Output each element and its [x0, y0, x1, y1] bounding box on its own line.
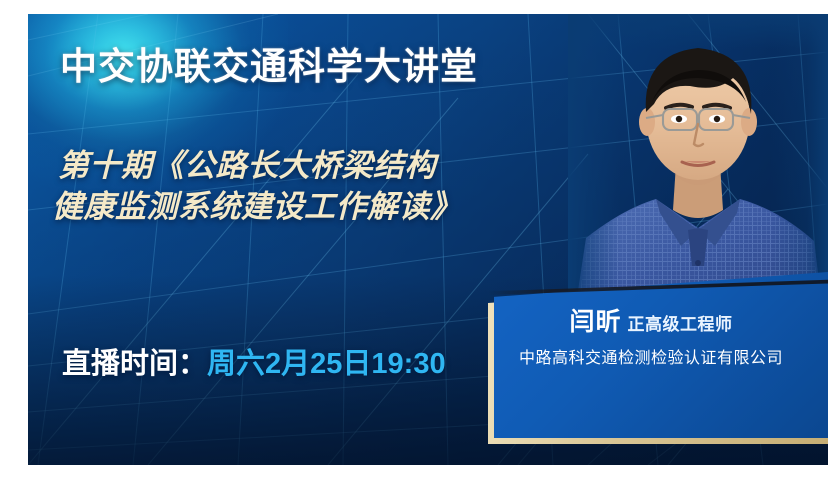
speaker-name: 闫昕	[569, 308, 621, 336]
speaker-title: 正高级工程师	[628, 315, 733, 334]
subtitle-line-2: 健康监测系统建设工作解读》	[52, 187, 598, 228]
subtitle-line-1: 第十期《公路长大桥梁结构	[58, 148, 436, 183]
speaker-company: 中路高科交通检测检验认证有限公司	[488, 344, 814, 368]
speaker-identity: 闫昕正高级工程师	[488, 302, 814, 338]
broadcast-time-value: 周六2月25日19:30	[207, 348, 446, 380]
promo-banner: 中交协联交通科学大讲堂 第十期《公路长大桥梁结构 健康监测系统建设工作解读》 直…	[28, 14, 828, 465]
broadcast-time-label: 直播时间：	[62, 348, 207, 380]
speaker-info-panel: 闫昕正高级工程师 中路高科交通检测检验认证有限公司	[488, 272, 828, 444]
subtitle: 第十期《公路长大桥梁结构 健康监测系统建设工作解读》	[58, 146, 598, 228]
speaker-photo	[568, 14, 828, 304]
page-title: 中交协联交通科学大讲堂	[60, 36, 478, 90]
broadcast-time: 直播时间：周六2月25日19:30	[62, 340, 446, 382]
